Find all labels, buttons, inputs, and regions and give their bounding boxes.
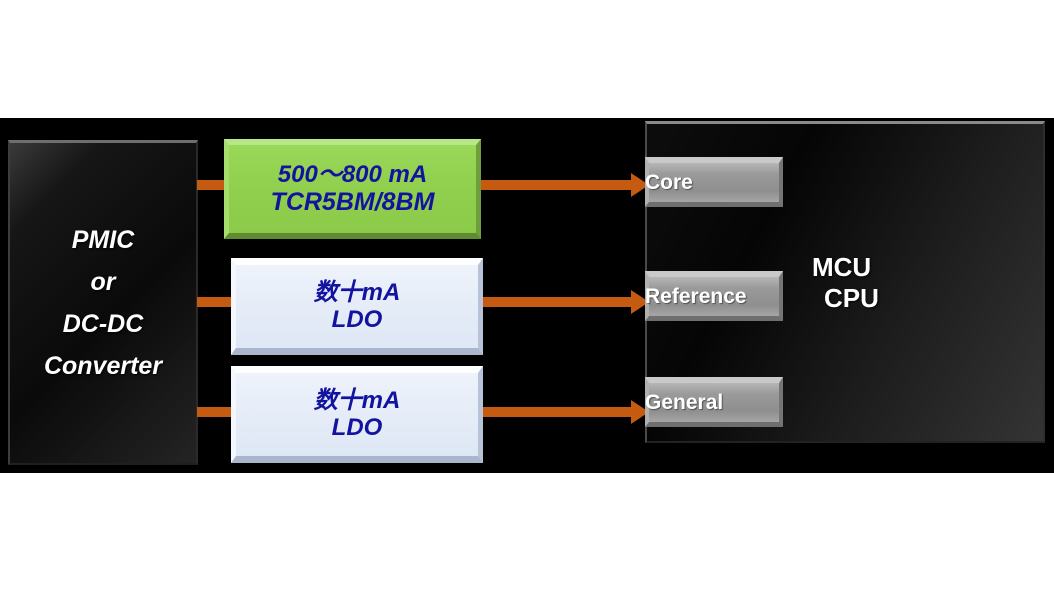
arrow-tcr-to-core <box>481 180 649 190</box>
arrow-ldo-2-to-general <box>483 407 649 417</box>
rail-button-general[interactable]: General <box>645 377 783 427</box>
regulator-box-ldo-1[interactable]: 数十mA LDO <box>231 258 483 355</box>
regulator-ldo-2-current: 数十mA <box>314 388 401 415</box>
rail-button-reference[interactable]: Reference <box>645 271 783 321</box>
arrow-ldo-1-to-reference <box>483 297 649 307</box>
regulator-tcr-current: 500～800 mA <box>278 162 427 189</box>
rail-button-core[interactable]: Core <box>645 157 783 207</box>
arrow-shaft <box>483 407 631 417</box>
mcu-title-line-1: MCU <box>812 252 871 282</box>
pmic-source-block[interactable]: PMIC or DC-DC Converter <box>8 140 198 465</box>
pmic-label-line-2: or <box>91 270 116 295</box>
pmic-label-line-3: DC-DC <box>63 312 144 337</box>
pmic-label-line-4: Converter <box>44 354 162 379</box>
mcu-title-line-2: CPU <box>812 283 879 314</box>
regulator-box-tcr[interactable]: 500～800 mA TCR5BM/8BM <box>224 139 481 239</box>
regulator-tcr-part: TCR5BM/8BM <box>271 188 435 216</box>
pmic-label-line-1: PMIC <box>72 228 135 253</box>
regulator-ldo-2-part: LDO <box>332 415 383 442</box>
rail-button-reference-label: Reference <box>645 285 747 309</box>
regulator-ldo-1-part: LDO <box>332 307 383 334</box>
arrow-shaft <box>483 297 631 307</box>
regulator-ldo-1-current: 数十mA <box>314 280 401 307</box>
regulator-box-ldo-2[interactable]: 数十mA LDO <box>231 366 483 463</box>
arrow-shaft <box>481 180 631 190</box>
rail-button-general-label: General <box>645 391 723 415</box>
rail-button-core-label: Core <box>645 171 693 195</box>
mcu-title: MCU CPU <box>812 252 879 313</box>
